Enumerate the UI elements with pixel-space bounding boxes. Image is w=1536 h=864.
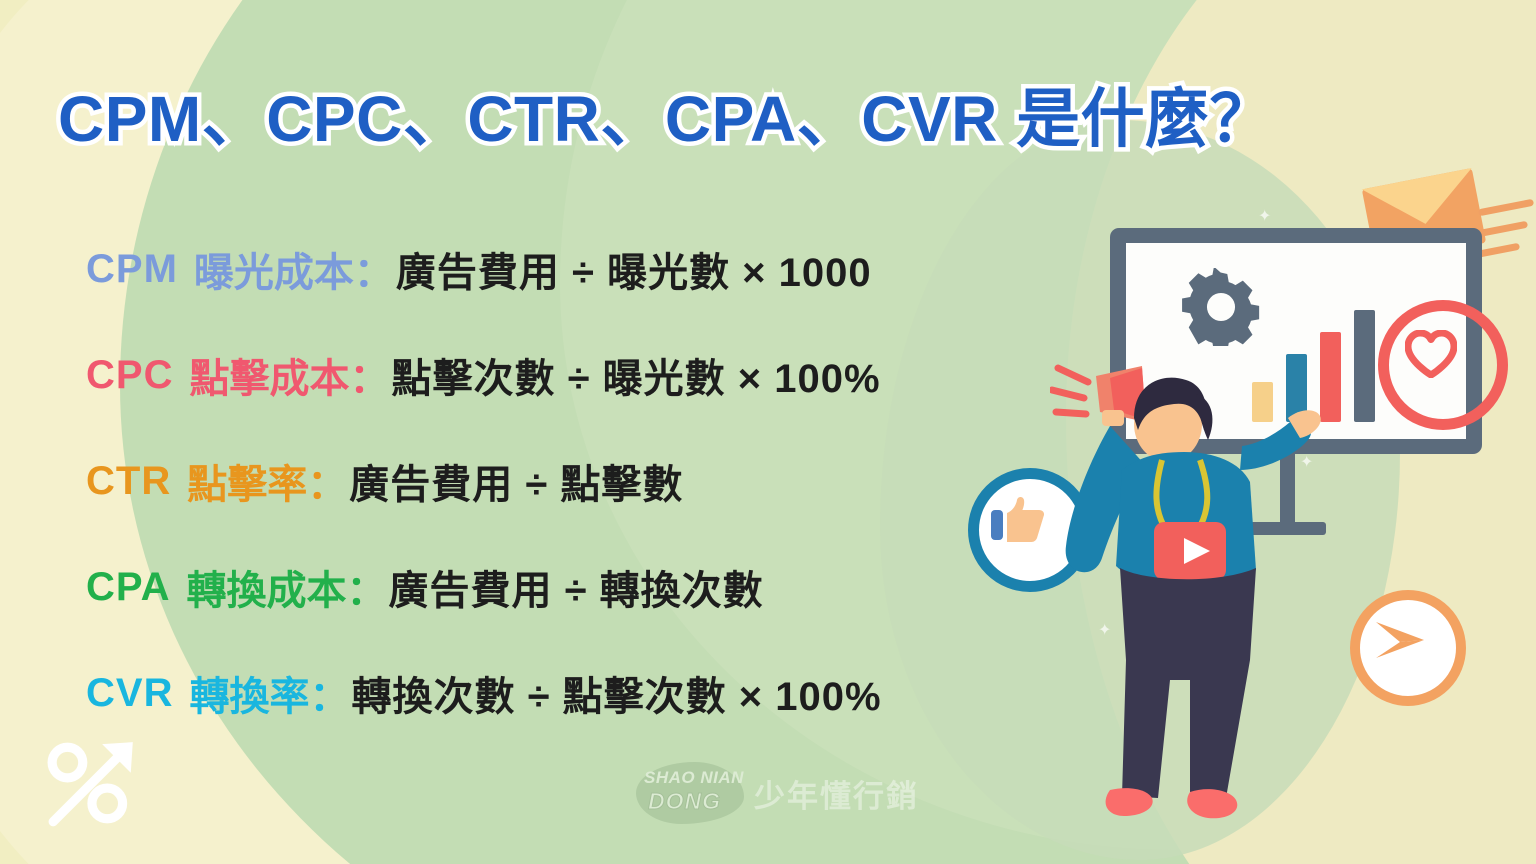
envelope-motion-line [1478,199,1534,217]
send-icon [1374,616,1426,664]
metric-formula-cpa: 廣告費用 ÷ 轉換次數 [388,558,763,616]
metric-code-cpc: CPC [86,353,173,398]
metric-colon-ctr: ： [307,452,347,510]
metric-code-cvr: CVR [86,671,173,716]
metric-colon-cpa: ： [346,558,386,616]
metric-colon-cpm: ： [354,240,394,298]
metric-label-ctr: 點擊率 [187,452,307,510]
gear-icon [1182,268,1260,346]
metric-colon-cvr: ： [309,664,349,722]
metric-code-cpm: CPM [86,247,178,292]
metric-code-cpa: CPA [86,565,170,610]
watermark-logo-mark: SHAO NIAN DONG [636,762,744,824]
metric-formula-ctr: 廣告費用 ÷ 點擊數 [349,452,683,510]
thumbs-up-icon [990,494,1048,546]
heart-icon [1405,330,1457,378]
person-character [1050,360,1370,860]
metric-formula-cpc: 點擊次數 ÷ 曝光數 × 100% [391,346,880,404]
metric-formula-cvr: 轉換次數 ÷ 點擊次數 × 100% [351,664,881,722]
metric-code-ctr: CTR [86,459,171,504]
illustration [950,150,1536,864]
percent-growth-icon [42,736,146,832]
page-title: CPM、CPC、CTR、CPA、CVR 是什麼？ [58,68,1274,160]
infographic-canvas: ✦ ✦ ✦ ✦ CPM、CPC、CTR、CPA、CVR 是什麼？ CPM 曝光成… [0,0,1536,864]
metric-formula-cpm: 廣告費用 ÷ 曝光數 × 1000 [396,240,872,298]
watermark-line-1: SHAO NIAN [644,768,744,788]
metric-colon-cpc: ： [349,346,389,404]
watermark-line-2: DONG [648,788,721,815]
metric-label-cpm: 曝光成本 [194,240,354,298]
brand-watermark: SHAO NIAN DONG 少年懂行銷 [636,762,919,824]
metric-label-cpa: 轉換成本 [186,558,346,616]
watermark-brand-name: 少年懂行銷 [754,771,919,816]
metric-label-cvr: 轉換率 [189,664,309,722]
metric-label-cpc: 點擊成本 [189,346,349,404]
